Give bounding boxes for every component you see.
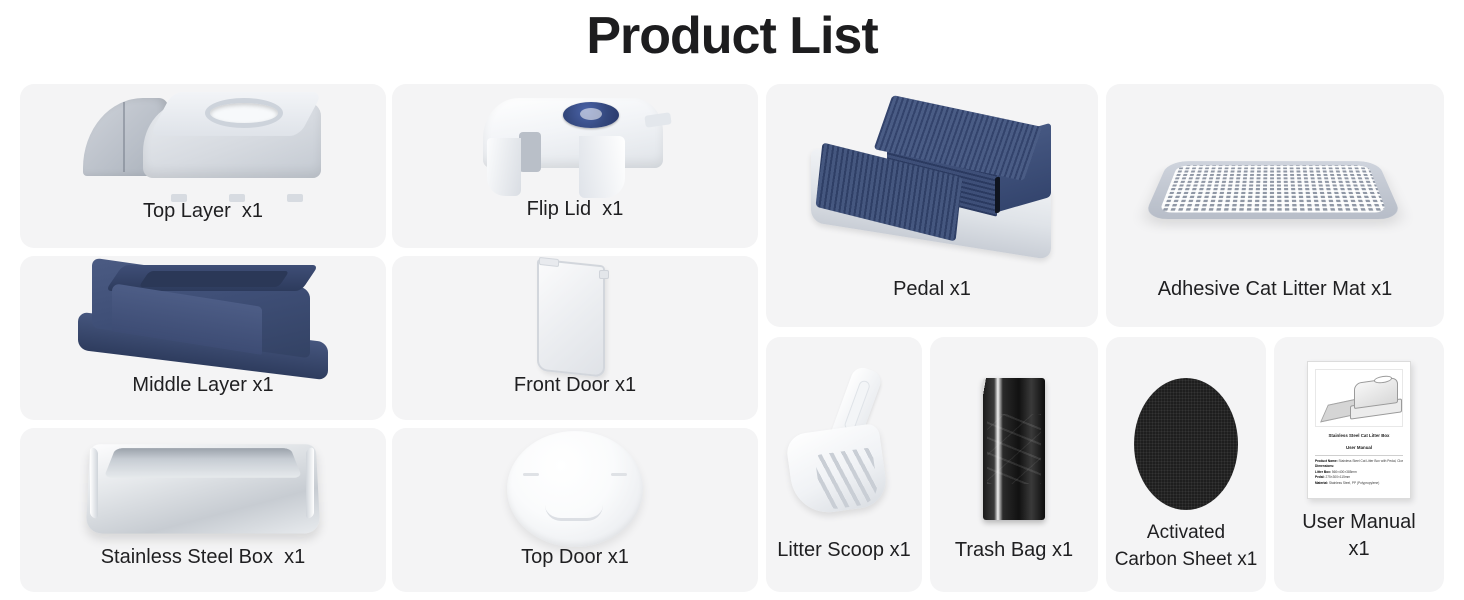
product-card-stainless-steel-box[interactable]: Stainless Steel Box x1 — [20, 428, 386, 592]
middle-layer-image — [20, 262, 386, 378]
flip-lid-illustration — [475, 92, 675, 200]
pedal-slot-shape — [995, 176, 1000, 213]
middle-layer-illustration — [78, 265, 328, 375]
manual-spec-product-name-value: Stainless Steel Cat Litter Box with Peda… — [1338, 459, 1403, 463]
carbon-sheet-image — [1106, 351, 1266, 537]
product-label-stainless-steel-box: Stainless Steel Box x1 — [24, 544, 382, 571]
product-label-litter-scoop: Litter Scoop x1 — [770, 537, 918, 564]
flip-lid-tab-shape — [644, 112, 671, 128]
stainless-steel-box-image — [20, 432, 386, 550]
front-door-image — [392, 260, 758, 378]
flip-lid-blue-knob-shape — [563, 102, 619, 128]
carbon-sheet-illustration — [1134, 378, 1238, 510]
product-card-litter-scoop[interactable]: Litter Scoop x1 — [766, 337, 922, 592]
product-card-front-door[interactable]: Front Door x1 — [392, 256, 758, 420]
trash-bag-illustration — [975, 374, 1053, 524]
steel-box-cavity-shape — [104, 448, 303, 478]
middle-layer-cavity-shape — [139, 271, 290, 287]
flip-lid-notch-shape — [519, 132, 541, 172]
manual-spec-product-name-key: Product Name: — [1315, 459, 1338, 463]
manual-cover-title-line-2: User Manual — [1315, 444, 1403, 451]
manual-spec-pedal-value: 275×300×115mm — [1325, 475, 1351, 479]
top-door-left-notch-shape — [523, 473, 539, 476]
product-card-activated-carbon-sheet[interactable]: Activated Carbon Sheet x1 — [1106, 337, 1266, 592]
manual-cover-title-line-1: Stainless Steel Cat Litter Box — [1315, 432, 1403, 439]
flip-lid-image — [392, 88, 758, 204]
litter-mat-illustration — [1157, 127, 1393, 251]
pedal-image — [766, 90, 1098, 280]
carbon-sheet-oval-shape — [1134, 378, 1238, 510]
product-card-top-layer[interactable]: Top Layer x1 — [20, 84, 386, 248]
product-label-front-door: Front Door x1 — [396, 372, 754, 399]
manual-spec-litter-box-key: Litter Box: — [1315, 470, 1331, 474]
product-label-trash-bag: Trash Bag x1 — [934, 537, 1094, 564]
litter-mat-body-shape — [1143, 161, 1403, 219]
product-list-page: Product List Top Layer x1 — [0, 0, 1464, 600]
top-layer-illustration — [83, 92, 323, 202]
manual-cover-divider — [1315, 455, 1403, 456]
trash-bag-wrinkle-shape — [987, 414, 1041, 484]
flip-lid-right-leg-shape — [579, 136, 625, 198]
litter-mat-image — [1106, 94, 1444, 284]
product-card-top-door[interactable]: Top Door x1 — [392, 428, 758, 592]
flip-lid-left-leg-shape — [487, 138, 521, 196]
trash-bag-image — [930, 351, 1098, 547]
product-card-pedal[interactable]: Pedal x1 — [766, 84, 1098, 327]
user-manual-cover-page: Stainless Steel Cat Litter Box User Manu… — [1307, 361, 1411, 499]
manual-spec-material-value: Stainless Steel, PP (Polypropylene) — [1328, 481, 1379, 485]
top-door-illustration — [505, 429, 645, 549]
product-card-middle-layer[interactable]: Middle Layer x1 — [20, 256, 386, 420]
front-door-illustration — [527, 258, 623, 380]
product-card-flip-lid[interactable]: Flip Lid x1 — [392, 84, 758, 248]
user-manual-image: Stainless Steel Cat Litter Box User Manu… — [1274, 349, 1444, 511]
product-label-flip-lid: Flip Lid x1 — [396, 196, 754, 223]
top-door-right-notch-shape — [611, 473, 627, 476]
front-door-side-tab-shape — [599, 270, 609, 279]
steel-box-left-lip-shape — [90, 446, 98, 519]
top-door-handle-shape — [545, 505, 603, 521]
litter-mat-perforation-pattern — [1159, 166, 1387, 213]
litter-scoop-image — [766, 349, 922, 545]
product-label-pedal: Pedal x1 — [770, 276, 1094, 303]
top-door-image — [392, 430, 758, 548]
top-layer-image — [20, 88, 386, 206]
top-layer-opening-shape — [205, 98, 283, 128]
manual-spec-material-key: Material: — [1315, 481, 1328, 485]
product-label-top-layer: Top Layer x1 — [24, 198, 382, 225]
manual-spec-material: Material: Stainless Steel, PP (Polypropy… — [1315, 481, 1403, 486]
top-door-disc-shape — [507, 431, 643, 547]
pedal-illustration — [807, 103, 1057, 268]
user-manual-illustration: Stainless Steel Cat Litter Box User Manu… — [1307, 361, 1411, 499]
manual-spec-pedal-key: Pedal: — [1315, 475, 1325, 479]
product-label-activated-carbon-sheet: Activated Carbon Sheet x1 — [1110, 519, 1262, 573]
page-title: Product List — [0, 6, 1464, 66]
product-card-trash-bag[interactable]: Trash Bag x1 — [930, 337, 1098, 592]
product-card-adhesive-cat-litter-mat[interactable]: Adhesive Cat Litter Mat x1 — [1106, 84, 1444, 327]
manual-spec-litter-box-value: 560×400×385mm — [1331, 470, 1357, 474]
litter-scoop-illustration — [784, 367, 904, 527]
product-label-adhesive-cat-litter-mat: Adhesive Cat Litter Mat x1 — [1110, 276, 1440, 303]
user-manual-cover-diagram — [1315, 369, 1403, 427]
stainless-steel-box-illustration — [80, 432, 326, 550]
steel-box-right-lip-shape — [306, 446, 314, 519]
manual-spec-dimensions-key: Dimensions: — [1315, 464, 1334, 468]
product-card-user-manual[interactable]: Stainless Steel Cat Litter Box User Manu… — [1274, 337, 1444, 592]
product-label-user-manual: User Manual x1 — [1278, 509, 1440, 563]
product-label-middle-layer: Middle Layer x1 — [24, 372, 382, 399]
product-label-top-door: Top Door x1 — [396, 544, 754, 571]
front-door-panel-shape — [537, 258, 605, 377]
